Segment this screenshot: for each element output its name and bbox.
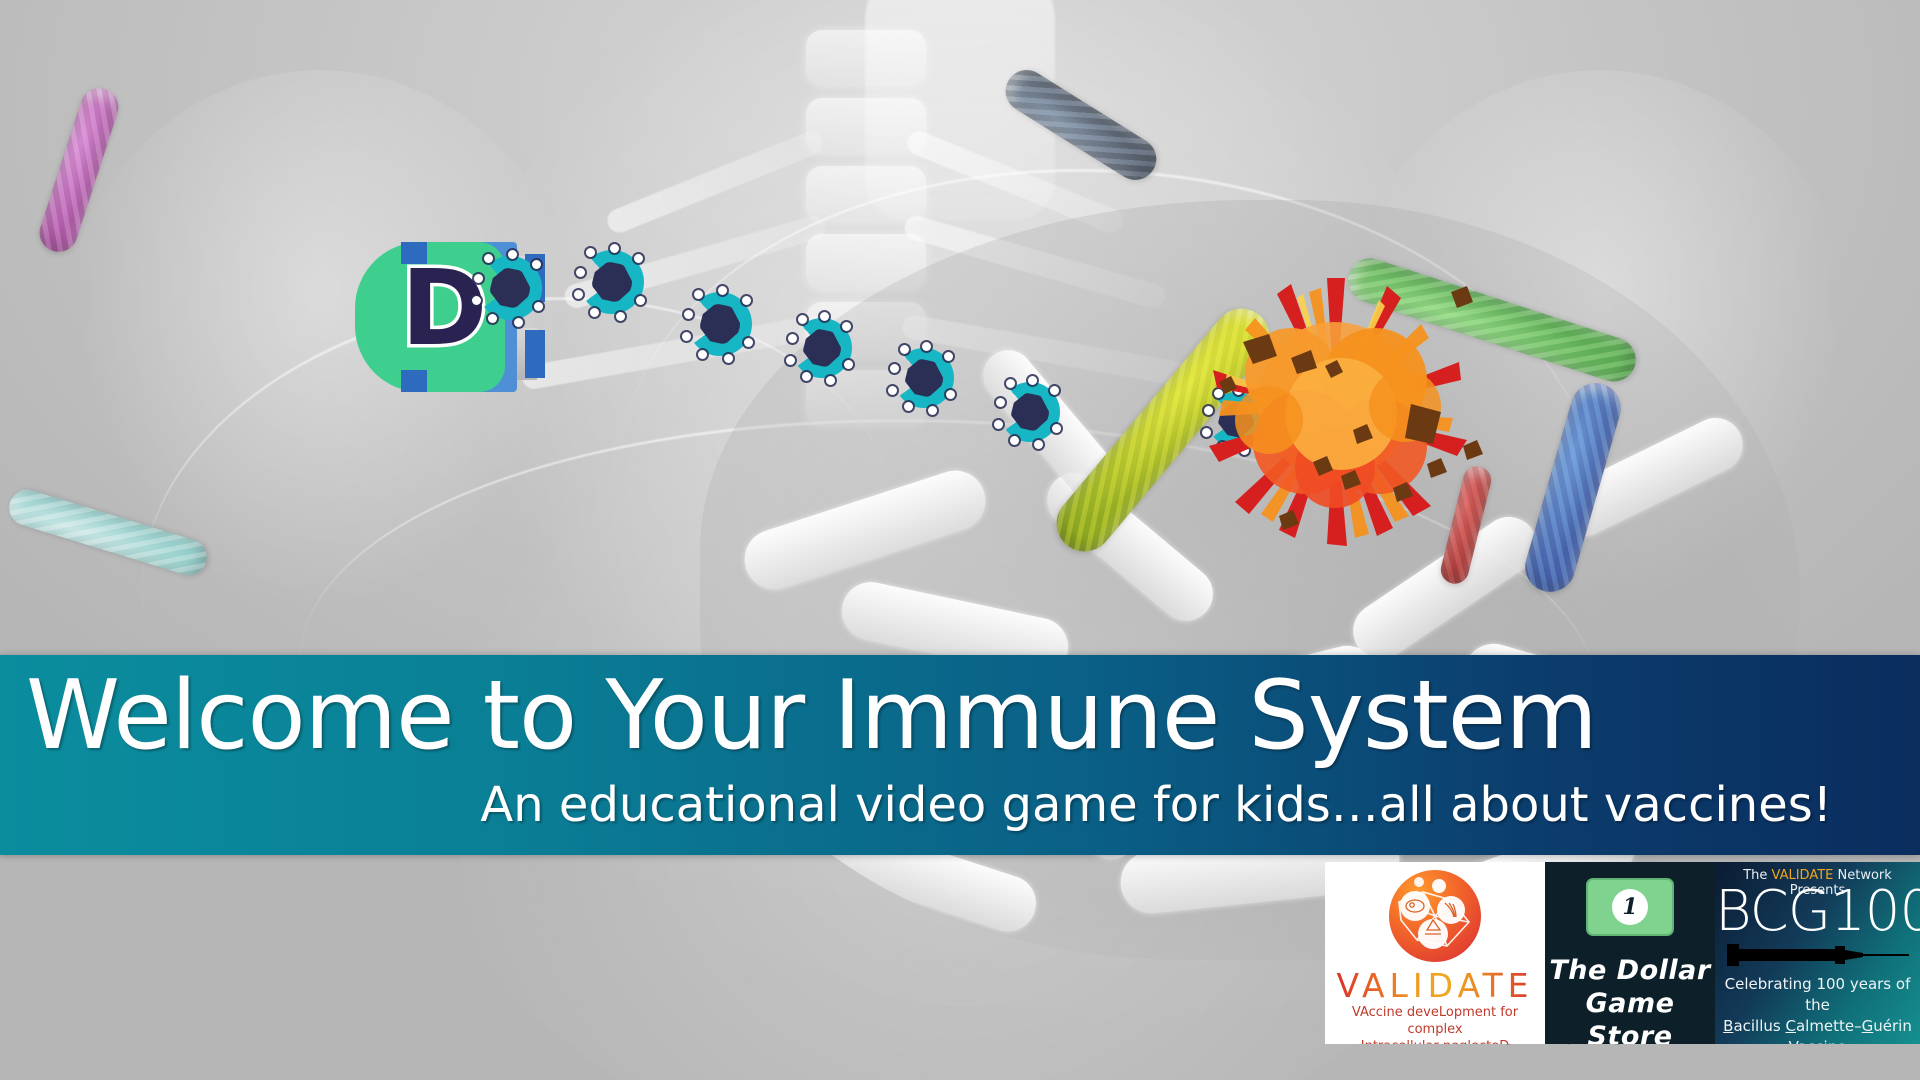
dollar-name-line1: The Dollar xyxy=(1549,955,1710,986)
dollar-bill-icon: 1 xyxy=(1586,878,1674,936)
bcg-caption-c: C xyxy=(1785,1017,1795,1035)
validate-tagline-line2: Intracellular neglecteD pAThogEns xyxy=(1361,1039,1510,1044)
syringe-icon xyxy=(1723,940,1913,970)
validate-tagline-line1: VAccine deveLopment for complex xyxy=(1352,1005,1518,1037)
poster-canvas: D xyxy=(0,0,1920,1080)
validate-tagline: VAccine deveLopment for complex Intracel… xyxy=(1331,1004,1539,1044)
bcg-caption-g: G xyxy=(1862,1017,1874,1035)
pathogen-sprite[interactable] xyxy=(688,292,752,356)
pathogen-sprite[interactable] xyxy=(894,348,954,408)
hero-letter: D xyxy=(401,266,467,354)
bcg-caption: Celebrating 100 years of the Bacillus Ca… xyxy=(1719,974,1916,1044)
page-subtitle: An educational video game for kids…all a… xyxy=(480,777,1832,833)
bcg-caption-line1: Celebrating 100 years of the xyxy=(1725,975,1911,1014)
logo-strip: VALIDATE VAccine deveLopment for complex… xyxy=(1325,862,1920,1044)
hero-corner-bl xyxy=(401,370,427,392)
title-banner: Welcome to Your Immune System An educati… xyxy=(0,655,1920,855)
validate-logo[interactable]: VALIDATE VAccine deveLopment for complex… xyxy=(1325,862,1545,1044)
validate-wordmark: VALIDATE xyxy=(1325,966,1545,1005)
pathogen-sprite[interactable] xyxy=(580,250,644,314)
page-title: Welcome to Your Immune System xyxy=(26,661,1597,771)
validate-mark-icon xyxy=(1389,870,1481,962)
bcg-caption-uerin: uérin xyxy=(1873,1017,1912,1035)
explosion-effect xyxy=(1175,250,1495,570)
syringe-svg xyxy=(1723,940,1913,970)
pathogen-sprite[interactable] xyxy=(792,318,852,378)
dollar-game-store-name: The Dollar Game Store xyxy=(1545,954,1715,1044)
dollar-name-line2: Game Store xyxy=(1586,988,1675,1044)
explosion-svg xyxy=(1175,250,1495,570)
bcg-caption-b: B xyxy=(1723,1017,1733,1035)
bcg100-logo[interactable]: The VALIDATE Network Presents BCG100 Cel… xyxy=(1715,862,1920,1044)
bcg-caption-line3: Vaccine xyxy=(1789,1038,1847,1044)
dollar-bill-value: 1 xyxy=(1612,889,1648,925)
hero-tab-bottom xyxy=(525,330,545,378)
bcg-title: BCG100 xyxy=(1715,882,1920,942)
validate-network-icon xyxy=(1389,870,1481,962)
pathogen-sprite[interactable] xyxy=(1000,382,1060,442)
bcg-caption-acillus: acillus xyxy=(1733,1017,1785,1035)
pathogen-sprite[interactable] xyxy=(478,256,542,320)
dollar-game-store-logo[interactable]: 1 The Dollar Game Store xyxy=(1545,862,1715,1044)
bcg-caption-almette: almette– xyxy=(1796,1017,1862,1035)
